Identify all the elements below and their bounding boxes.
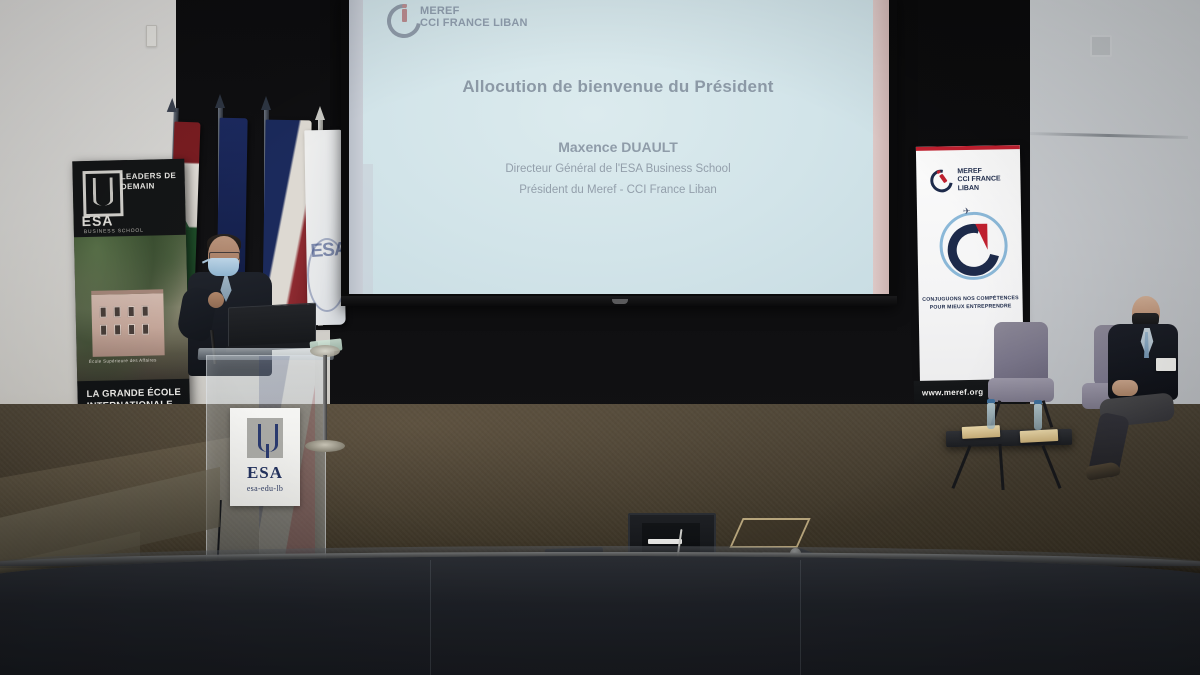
france-flag-finial-icon xyxy=(261,96,271,110)
slide-title: Allocution de bienvenue du Président xyxy=(363,77,873,97)
slide-speaker-name: Maxence DUAULT xyxy=(363,139,873,155)
slide-logo-line1: MEREF xyxy=(420,5,528,17)
slide-logo: MEREF CCI FRANCE LIBAN xyxy=(387,4,528,30)
seated-guest-hands xyxy=(1112,380,1138,396)
banner-esa-brand-sub: BUSINESS SCHOOL xyxy=(84,228,144,236)
banner-meref-tagline-2: POUR MIEUX ENTREPRENDRE xyxy=(930,303,1012,310)
banner-meref-top-accent xyxy=(916,145,1020,151)
water-bottle xyxy=(1034,404,1042,430)
banner-esa-brand: ESA xyxy=(81,212,113,229)
globe-red-wedge-icon xyxy=(975,224,987,250)
ring-i-dot-icon xyxy=(402,4,407,8)
esa-flag-finial-icon xyxy=(315,106,325,120)
banner-esa-headline: LEADERS DE DEMAIN xyxy=(121,171,185,192)
conference-hall-photo: ESA MEREF CCI FRANCE LIBAN Allocution de… xyxy=(0,0,1200,675)
banner-meref-tagline-1: CONJUGUONS NOS COMPÉTENCES xyxy=(922,295,1019,303)
ring-i-stem-icon xyxy=(402,9,407,22)
slide-edge-band-right xyxy=(873,0,889,294)
banner-esa-header: ESA BUSINESS SCHOOL LEADERS DE DEMAIN xyxy=(72,159,186,238)
slide-edge-band-left-lower xyxy=(363,164,373,294)
eu-flag-finial-icon xyxy=(215,94,225,108)
floor-stand-base xyxy=(305,440,345,452)
speaker-hand xyxy=(208,292,224,308)
stage-riser-front xyxy=(0,556,1200,675)
banner-esa-building xyxy=(91,289,164,357)
podium-sign-brand: ESA xyxy=(230,463,300,483)
esa-tulip-logo-icon xyxy=(82,170,123,217)
armchair-empty-seat xyxy=(988,378,1054,402)
banner-meref-logo-text: MEREF CCI FRANCE LIBAN xyxy=(957,167,1020,193)
water-bottle-cap xyxy=(1034,400,1042,404)
podium-sign-url: esa-edu-lb xyxy=(230,484,300,493)
armchair-empty xyxy=(988,322,1052,418)
esa-tulip-glyph-icon xyxy=(93,177,114,205)
projection-screen: MEREF CCI FRANCE LIBAN Allocution de bie… xyxy=(349,0,889,294)
confidence-monitor-ports xyxy=(648,539,682,544)
slide-surface: MEREF CCI FRANCE LIBAN Allocution de bie… xyxy=(363,0,873,294)
wall-fixture-right-icon xyxy=(1090,35,1112,57)
armchair-empty-back xyxy=(994,322,1048,384)
slide-edge-band-left xyxy=(349,0,363,294)
slide-logo-line2: CCI FRANCE LIBAN xyxy=(420,17,528,29)
water-bottle-cap xyxy=(987,399,995,403)
esa-flag-logo-text: ESA xyxy=(310,239,344,303)
floor-stand-pole xyxy=(323,355,327,445)
meref-i-stem-icon xyxy=(939,174,947,183)
airplane-icon: ✈ xyxy=(963,206,971,217)
banner-meref-url: www.meref.org xyxy=(922,387,984,397)
meref-ring-icon xyxy=(926,165,957,197)
banner-meref-logo-line2: CCI FRANCE LIBAN xyxy=(957,175,1020,193)
banner-esa-photo-caption: École Supérieure des Affaires xyxy=(89,357,157,364)
stage-riser-seam xyxy=(800,560,801,675)
esa-podium-logo-icon xyxy=(247,418,283,458)
seated-guest xyxy=(1090,296,1186,476)
water-bottle xyxy=(987,403,995,429)
seated-guest-name-badge xyxy=(1156,358,1176,371)
speaker-face-mask xyxy=(208,258,239,276)
banner-meref-tagline: CONJUGUONS NOS COMPÉTENCES POUR MIEUX EN… xyxy=(918,295,1022,312)
slide-logo-text: MEREF CCI FRANCE LIBAN xyxy=(420,5,528,30)
podium-sign: ESA esa-edu-lb xyxy=(230,408,300,506)
banner-meref-logo: MEREF CCI FRANCE LIBAN xyxy=(930,167,1020,193)
projection-screen-pull-tab-icon xyxy=(612,299,628,304)
lebanon-flag-finial-icon xyxy=(167,98,177,112)
cci-ring-icon xyxy=(387,4,413,30)
stage-riser-seam xyxy=(430,560,431,675)
esa-podium-tulip-icon xyxy=(258,424,278,452)
slide-speaker-role-2: Président du Meref - CCI France Liban xyxy=(363,184,873,196)
banner-meref-globe-illustration: ✈ xyxy=(935,207,1006,278)
slide-speaker-role-1: Directeur Général de l'ESA Business Scho… xyxy=(363,163,873,175)
floor-cable-box xyxy=(729,518,810,548)
wall-fixture-left-icon xyxy=(146,25,157,47)
nameplate xyxy=(1020,429,1059,443)
